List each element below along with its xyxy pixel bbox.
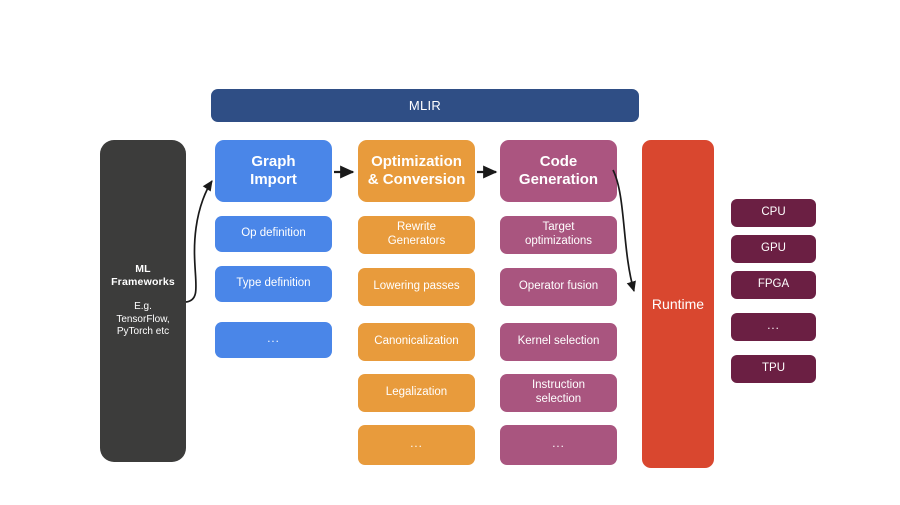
item-label: Rewrite Generators [388, 221, 446, 248]
item-label: Type definition [236, 277, 310, 291]
mlir-bar-label: MLIR [409, 98, 441, 113]
code-generation-item-target-optimizations[interactable]: Target optimizations [500, 216, 617, 254]
target-label: ... [767, 320, 780, 334]
target-label: FPGA [758, 278, 789, 292]
runtime-box[interactable]: Runtime [642, 140, 714, 468]
graph-import-item-more[interactable]: ... [215, 322, 332, 358]
diagram-canvas: ML Frameworks E.g. TensorFlow, PyTorch e… [0, 0, 900, 505]
mlir-bar[interactable]: MLIR [211, 89, 639, 122]
target-tpu[interactable]: TPU [731, 355, 816, 383]
arrow-frameworks-to-graph-import [186, 181, 212, 302]
code-generation-item-kernel-selection[interactable]: Kernel selection [500, 323, 617, 361]
graph-import-item-type-definition[interactable]: Type definition [215, 266, 332, 302]
item-label: Lowering passes [373, 280, 459, 294]
item-label: Kernel selection [518, 335, 600, 349]
item-label: Instruction selection [532, 379, 585, 406]
code-generation-item-instruction-selection[interactable]: Instruction selection [500, 374, 617, 412]
runtime-label: Runtime [652, 296, 704, 313]
optimization-conversion-label: Optimization & Conversion [368, 153, 466, 190]
code-generation-item-more[interactable]: ... [500, 425, 617, 465]
item-label: Target optimizations [525, 221, 592, 248]
graph-import-box[interactable]: Graph Import [215, 140, 332, 202]
optimization-item-rewrite-generators[interactable]: Rewrite Generators [358, 216, 475, 254]
ml-frameworks-title: ML Frameworks [111, 263, 175, 288]
graph-import-item-op-definition[interactable]: Op definition [215, 216, 332, 252]
graph-import-label: Graph Import [250, 153, 297, 190]
target-label: TPU [762, 362, 785, 376]
target-gpu[interactable]: GPU [731, 235, 816, 263]
item-label: ... [410, 438, 423, 452]
target-cpu[interactable]: CPU [731, 199, 816, 227]
ml-frameworks-box[interactable]: ML Frameworks E.g. TensorFlow, PyTorch e… [100, 140, 186, 462]
target-more[interactable]: ... [731, 313, 816, 341]
optimization-item-canonicalization[interactable]: Canonicalization [358, 323, 475, 361]
item-label: Canonicalization [374, 335, 458, 349]
ml-frameworks-subtitle: E.g. TensorFlow, PyTorch etc [116, 301, 169, 339]
code-generation-box[interactable]: Code Generation [500, 140, 617, 202]
optimization-item-legalization[interactable]: Legalization [358, 374, 475, 412]
optimization-item-lowering-passes[interactable]: Lowering passes [358, 268, 475, 306]
target-label: CPU [761, 206, 785, 220]
code-generation-label: Code Generation [519, 153, 598, 190]
item-label: Operator fusion [519, 280, 598, 294]
target-label: GPU [761, 242, 786, 256]
optimization-item-more[interactable]: ... [358, 425, 475, 465]
item-label: ... [552, 438, 565, 452]
item-label: Legalization [386, 386, 447, 400]
optimization-conversion-box[interactable]: Optimization & Conversion [358, 140, 475, 202]
target-fpga[interactable]: FPGA [731, 271, 816, 299]
item-label: Op definition [241, 227, 306, 241]
code-generation-item-operator-fusion[interactable]: Operator fusion [500, 268, 617, 306]
item-label: ... [267, 333, 280, 347]
